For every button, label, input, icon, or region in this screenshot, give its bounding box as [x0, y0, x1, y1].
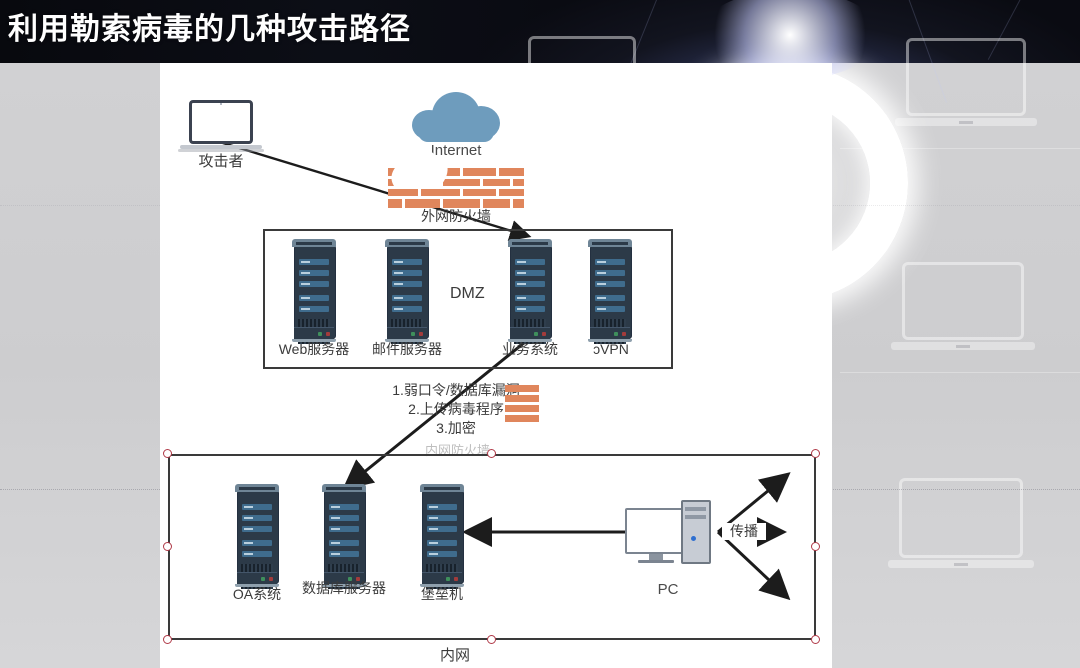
dmz-node-label: 业务系统: [492, 341, 568, 358]
dmz-node-label: ɔVPN: [575, 341, 647, 358]
intranet-node-label: PC: [638, 581, 698, 598]
selection-handle-tl[interactable]: [163, 449, 172, 458]
external-firewall-icon: [388, 168, 524, 208]
server-icon: [235, 484, 279, 584]
server-icon: [385, 239, 429, 339]
server-icon: [292, 239, 336, 339]
spread-label: 传播: [722, 523, 766, 540]
desktop-pc-icon: [625, 498, 719, 570]
intranet-zone-label: 内网: [440, 644, 470, 665]
selection-handle-bc[interactable]: [487, 635, 496, 644]
external-firewall-label: 外网防火墙: [406, 208, 506, 225]
server-icon: [508, 239, 552, 339]
attacker-label: 攻击者: [181, 153, 261, 170]
intranet-node-label: 数据库服务器: [300, 580, 388, 597]
server-icon: [420, 484, 464, 584]
dmz-node-label: Web服务器: [272, 341, 356, 358]
intranet-node-label: OA系统: [217, 586, 297, 603]
server-icon: [588, 239, 632, 339]
intranet-node-label: 堡垒机: [404, 586, 480, 603]
selection-handle-tr[interactable]: [811, 449, 820, 458]
slide-stage: 利用勒索病毒的几种攻击路径 攻击者 Interne: [0, 0, 1080, 668]
dmz-node-label: 邮件服务器: [362, 341, 452, 358]
selection-handle-ml[interactable]: [163, 542, 172, 551]
server-icon: [322, 484, 366, 584]
selection-handle-br[interactable]: [811, 635, 820, 644]
internal-firewall-icon: [505, 385, 539, 429]
dmz-zone-label: DMZ: [450, 285, 485, 303]
selection-handle-bl[interactable]: [163, 635, 172, 644]
internet-cloud-icon: [412, 90, 500, 142]
flame-icon: [386, 148, 456, 188]
selection-handle-tc[interactable]: [487, 449, 496, 458]
attacker-laptop-icon: [186, 100, 256, 152]
selection-handle-mr[interactable]: [811, 542, 820, 551]
